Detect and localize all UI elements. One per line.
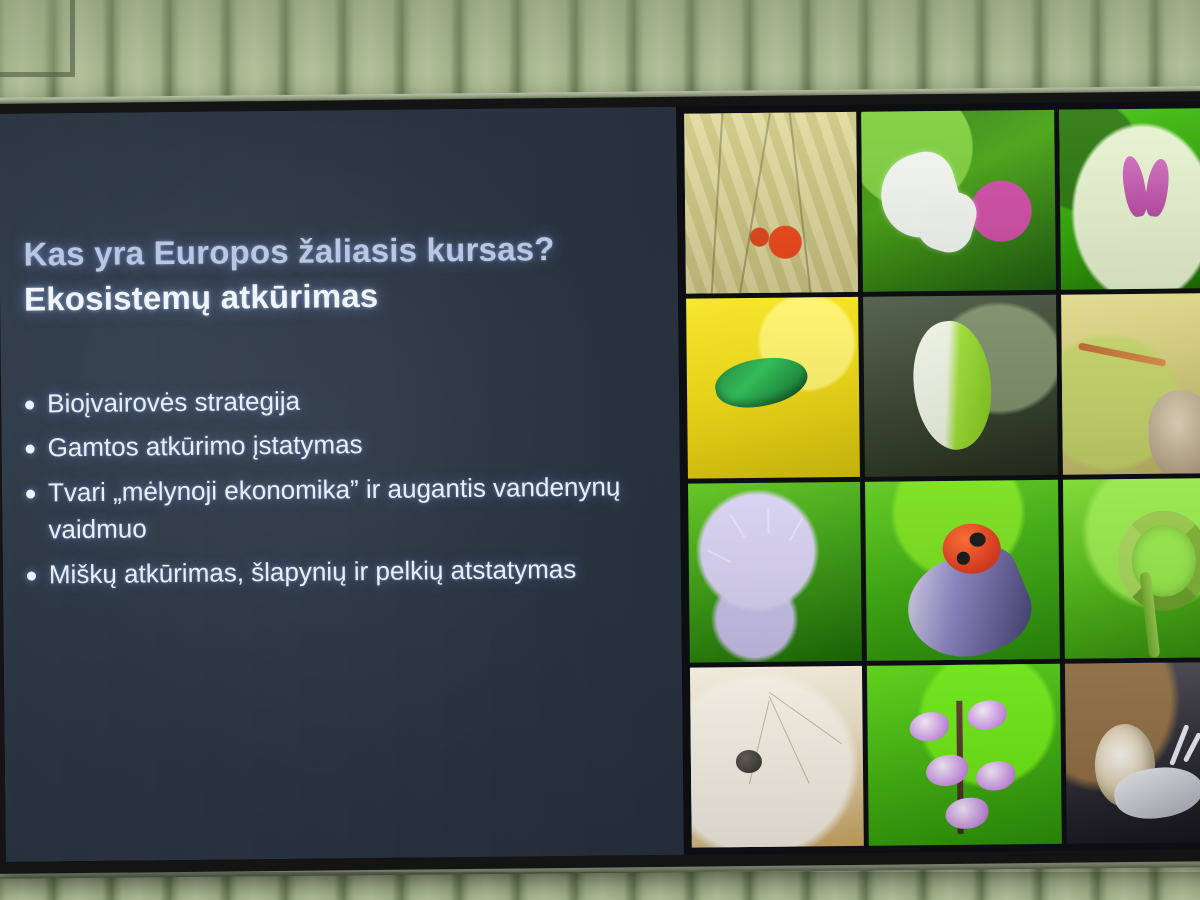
- wall-top-shadow: [0, 0, 1200, 96]
- bullet-label: Gamtos atkūrimo įstatymas: [47, 424, 631, 468]
- list-item: Gamtos atkūrimo įstatymas: [21, 424, 631, 468]
- photographed-presentation-scene: Kas yra Europos žaliasis kursas? Ekosist…: [0, 0, 1200, 900]
- bullet-label: Tvari „mėlynoji ekonomika” ir augantis v…: [48, 468, 633, 549]
- list-item: Miškų atkūrimas, šlapynių ir pelkių atst…: [23, 550, 633, 594]
- display-screen: Kas yra Europos žaliasis kursas? Ekosist…: [0, 101, 1200, 862]
- bullet-dot-icon: [26, 489, 35, 498]
- slide-bullet-list: Bioįvairovės strategija Gamtos atkūrimo …: [21, 379, 633, 601]
- photo-pink-bud-on-leaf: [1059, 108, 1200, 289]
- photo-snail-on-forest-floor: [1065, 662, 1200, 843]
- slide-title-question: Kas yra Europos žaliasis kursas?: [23, 229, 647, 274]
- bullet-label: Miškų atkūrimas, šlapynių ir pelkių atst…: [49, 550, 633, 594]
- list-item: Bioįvairovės strategija: [21, 379, 631, 423]
- slide-text-pane: Kas yra Europos žaliasis kursas? Ekosist…: [0, 107, 684, 862]
- photo-dragonfly-on-seedhead: [1061, 293, 1200, 474]
- photo-ladybird-on-thistle: [865, 479, 1060, 661]
- bullet-label: Bioįvairovės strategija: [47, 379, 631, 423]
- photo-poppy-in-grain-field: [684, 112, 858, 294]
- presentation-display: Kas yra Europos žaliasis kursas? Ekosist…: [0, 91, 1200, 874]
- photo-mint-flower-head: [688, 481, 862, 663]
- photo-fern-fiddlehead: [1063, 478, 1200, 659]
- photo-green-beetle-on-yellow-flower: [686, 297, 860, 479]
- bullet-dot-icon: [26, 445, 35, 454]
- list-item: Tvari „mėlynoji ekonomika” ir augantis v…: [22, 468, 633, 549]
- photo-insect-on-dry-leaf: [690, 666, 864, 848]
- slide-title-block: Kas yra Europos žaliasis kursas? Ekosist…: [23, 229, 648, 319]
- photo-green-lacewing: [863, 295, 1058, 477]
- wall-panel-seam: [0, 0, 75, 77]
- photo-purple-orchid: [867, 664, 1062, 846]
- bullet-dot-icon: [25, 401, 34, 410]
- wall-lower-band: [0, 872, 1200, 900]
- photo-white-butterfly-on-clover: [861, 110, 1056, 292]
- slide-title-subject: Ekosistemų atkūrimas: [24, 273, 648, 319]
- bullet-dot-icon: [27, 571, 36, 580]
- nature-photo-mosaic: [676, 101, 1200, 855]
